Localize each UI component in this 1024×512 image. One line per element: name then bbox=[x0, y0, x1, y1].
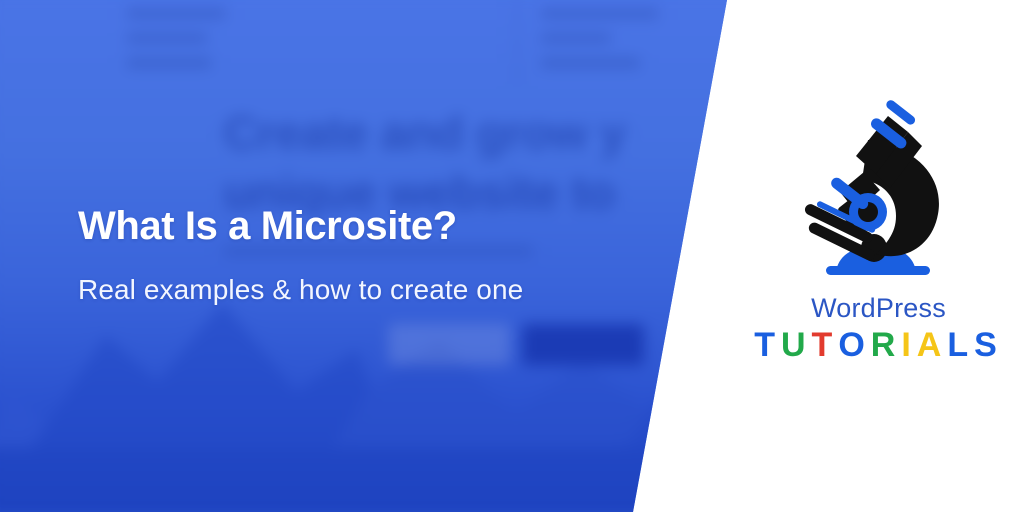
tutorials-letter-8: S bbox=[974, 328, 1003, 362]
nav-item bbox=[127, 9, 226, 18]
nav-item bbox=[541, 58, 640, 67]
mountain-base-fill bbox=[0, 448, 1024, 512]
nav-item bbox=[541, 34, 611, 43]
nav-item bbox=[541, 9, 658, 18]
nav-column-left bbox=[127, 9, 226, 68]
microscope-icon bbox=[804, 96, 954, 281]
screenshot-cta-primary bbox=[522, 324, 644, 365]
page-title: What Is a Microsite? bbox=[78, 204, 457, 248]
nav-column-right bbox=[541, 9, 658, 68]
page-subtitle: Real examples & how to create one bbox=[78, 272, 523, 307]
tutorials-letter-0: T bbox=[754, 328, 781, 362]
screenshot-cta-buttons bbox=[388, 324, 643, 365]
nav-item bbox=[127, 34, 207, 43]
tutorials-letter-2: T bbox=[812, 328, 839, 362]
tutorials-letter-7: L bbox=[947, 328, 974, 362]
screenshot-cta-secondary bbox=[388, 324, 510, 365]
nav-item bbox=[127, 58, 211, 67]
tutorials-letter-1: U bbox=[781, 328, 812, 362]
screenshot-hero-line-1: Create and grow y bbox=[224, 104, 760, 163]
banner-image: Create and grow y unique website to What… bbox=[0, 0, 1024, 512]
tutorials-letter-3: O bbox=[838, 328, 870, 362]
tutorials-letter-4: R bbox=[871, 328, 902, 362]
brand-wordpress-label: WordPress bbox=[811, 295, 946, 322]
brand-tutorials-label: T U T O R I A L S bbox=[754, 328, 1003, 362]
tutorials-letter-5: I bbox=[901, 328, 916, 362]
tutorials-letter-6: A bbox=[917, 328, 948, 362]
nav-divider bbox=[516, 1, 518, 83]
brand-lockup: WordPress T U T O R I A L S bbox=[733, 96, 1024, 396]
